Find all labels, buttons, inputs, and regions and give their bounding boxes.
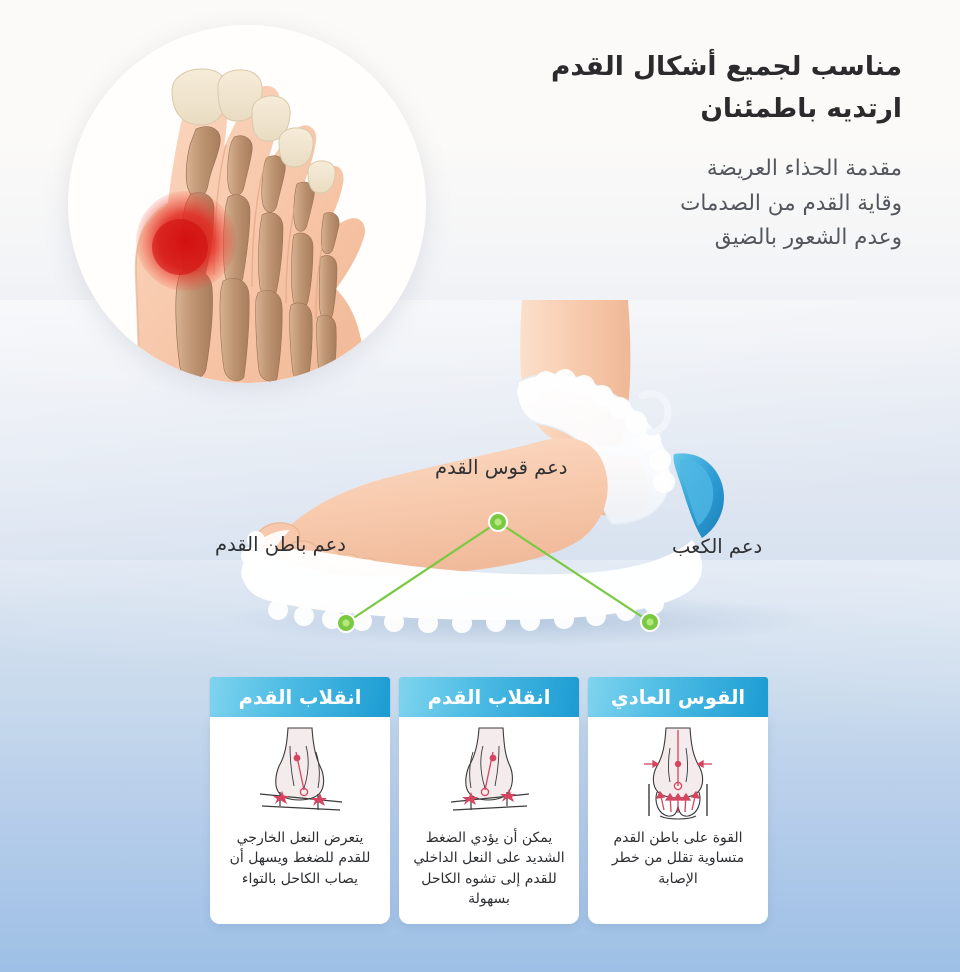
subhead-line-1: مقدمة الحذاء العريضة xyxy=(482,152,902,187)
callout-heel-support: دعم الكعب xyxy=(672,537,762,557)
foot-type-card-list: القوس العادي xyxy=(210,677,768,924)
card-caption-foot-overpronation: يمكن أن يؤدي الضغط الشديد على النعل الدا… xyxy=(405,828,573,910)
card-caption-foot-supination: يتعرض النعل الخارجي للقدم للضغط ويسهل أن… xyxy=(216,828,384,889)
card-foot-overpronation[interactable]: انقلاب القدم xyxy=(399,677,579,924)
card-body-normal-arch: القوة على باطن القدم متساوية تقلل من خطر… xyxy=(588,717,768,924)
card-body-foot-overpronation: يمكن أن يؤدي الضغط الشديد على النعل الدا… xyxy=(399,717,579,924)
callout-arch-support: دعم قوس القدم xyxy=(435,458,567,478)
headline-line-1: مناسب لجميع أشكال القدم xyxy=(482,46,902,88)
ankle-neutral-diagram-icon xyxy=(630,726,726,826)
card-foot-supination[interactable]: انقلاب القدم xyxy=(210,677,390,924)
card-title-foot-supination: انقلاب القدم xyxy=(210,677,390,717)
hero-text-block: مناسب لجميع أشكال القدم ارتديه باطمئنان … xyxy=(482,46,902,256)
card-body-foot-supination: يتعرض النعل الخارجي للقدم للضغط ويسهل أن… xyxy=(210,717,390,924)
ankle-supination-diagram-icon xyxy=(252,726,348,826)
hero-subtitle: مقدمة الحذاء العريضة وقاية القدم من الصد… xyxy=(482,152,902,256)
card-caption-normal-arch: القوة على باطن القدم متساوية تقلل من خطر… xyxy=(594,828,762,889)
card-normal-arch[interactable]: القوس العادي xyxy=(588,677,768,924)
card-title-foot-overpronation: انقلاب القدم xyxy=(399,677,579,717)
card-title-normal-arch: القوس العادي xyxy=(588,677,768,717)
page-title: مناسب لجميع أشكال القدم ارتديه باطمئنان xyxy=(482,46,902,130)
subhead-line-2: وقاية القدم من الصدمات xyxy=(482,187,902,222)
headline-line-2: ارتديه باطمئنان xyxy=(482,88,902,130)
subhead-line-3: وعدم الشعور بالضيق xyxy=(482,221,902,256)
infographic-canvas: مناسب لجميع أشكال القدم ارتديه باطمئنان … xyxy=(0,0,960,972)
callout-sole-support: دعم باطن القدم xyxy=(215,535,346,555)
ankle-pronation-diagram-icon xyxy=(441,726,537,826)
